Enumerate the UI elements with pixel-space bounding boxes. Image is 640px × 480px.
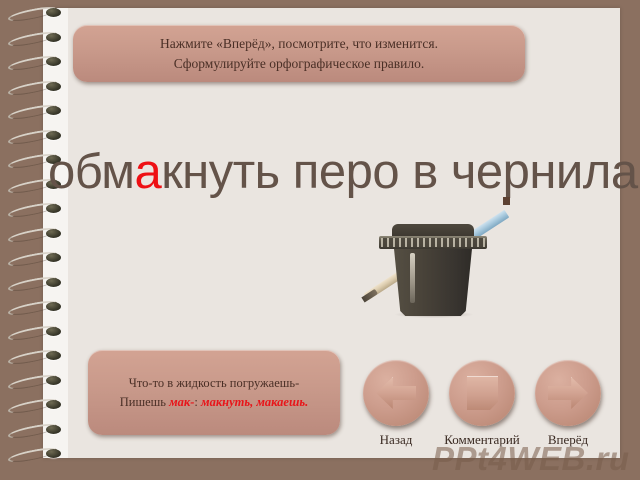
- headline-prefix: обм: [48, 145, 134, 199]
- punch-hole: [46, 204, 61, 213]
- back-button[interactable]: [363, 360, 429, 426]
- nav-back[interactable]: Назад: [356, 360, 436, 448]
- rule-examples: макнуть, макаешь.: [201, 395, 308, 409]
- spiral-coil: [8, 351, 60, 360]
- spiral-coil: [8, 57, 60, 66]
- note-icon: [467, 376, 498, 410]
- comment-button[interactable]: [449, 360, 515, 426]
- spiral-coil: [8, 106, 60, 115]
- spiral-coil: [8, 302, 60, 311]
- instruction-box: Нажмите «Вперёд», посмотрите, что измени…: [73, 25, 525, 82]
- punch-hole: [46, 82, 61, 91]
- rule-line-2: Пишешь мак-: макнуть, макаешь.: [120, 393, 308, 412]
- rule-line-2-prefix: Пишешь: [120, 395, 169, 409]
- spiral-coil: [8, 425, 60, 434]
- watermark: PPt4WEB.ru: [432, 440, 630, 478]
- punch-hole: [46, 57, 61, 66]
- punch-hole: [46, 302, 61, 311]
- slide-canvas: Нажмите «Вперёд», посмотрите, что измени…: [0, 0, 640, 480]
- rule-box: Что-то в жидкость погружаешь- Пишешь мак…: [88, 350, 340, 435]
- spiral-coil: [8, 449, 60, 458]
- punch-hole: [46, 131, 61, 140]
- spiral-coil: [8, 204, 60, 213]
- inkwell-rim-ridges: [381, 238, 485, 247]
- headline-suffix: кнуть перо в чернила: [161, 145, 637, 199]
- spiral-coil: [8, 278, 60, 287]
- punch-hole: [46, 33, 61, 42]
- spiral-coil: [8, 8, 60, 17]
- rule-root: мак-: [169, 395, 194, 409]
- arrow-right-icon: [548, 377, 588, 409]
- punch-hole: [46, 351, 61, 360]
- forward-button[interactable]: [535, 360, 601, 426]
- inkwell-highlight: [410, 253, 415, 303]
- spiral-coil: [8, 400, 60, 409]
- instruction-line-2: Сформулируйте орфографическое правило.: [160, 54, 438, 74]
- punch-hole: [46, 449, 61, 458]
- back-button-label: Назад: [356, 432, 436, 448]
- spiral-coil: [8, 253, 60, 262]
- instruction-line-1: Нажмите «Вперёд», посмотрите, что измени…: [160, 34, 438, 54]
- headline-highlight-letter: а: [134, 145, 161, 199]
- spiral-coil: [8, 131, 60, 140]
- nav-forward[interactable]: Вперёд: [528, 360, 608, 448]
- spiral-coil: [8, 376, 60, 385]
- punch-hole: [46, 376, 61, 385]
- pen-nib-icon: [361, 289, 378, 303]
- spiral-coil: [8, 82, 60, 91]
- punch-hole: [46, 106, 61, 115]
- spiral-coil: [8, 33, 60, 42]
- inkwell-body: [391, 244, 475, 316]
- rule-line-1: Что-то в жидкость погружаешь-: [120, 374, 308, 393]
- punch-hole: [46, 229, 61, 238]
- spiral-coil: [8, 327, 60, 336]
- punch-hole: [46, 400, 61, 409]
- spiral-coil: [8, 229, 60, 238]
- punch-hole: [46, 425, 61, 434]
- nav-comment[interactable]: Комментарий: [442, 360, 522, 448]
- page-title: обмакнуть перо в чернила: [48, 148, 623, 197]
- arrow-left-icon: [376, 377, 416, 409]
- punch-hole: [46, 278, 61, 287]
- inkwell-and-pen-illustration: [355, 195, 520, 325]
- spiral-binding: [0, 0, 70, 480]
- punch-hole: [46, 8, 61, 17]
- ink-speck-icon: [503, 197, 510, 205]
- punch-hole: [46, 327, 61, 336]
- punch-hole: [46, 253, 61, 262]
